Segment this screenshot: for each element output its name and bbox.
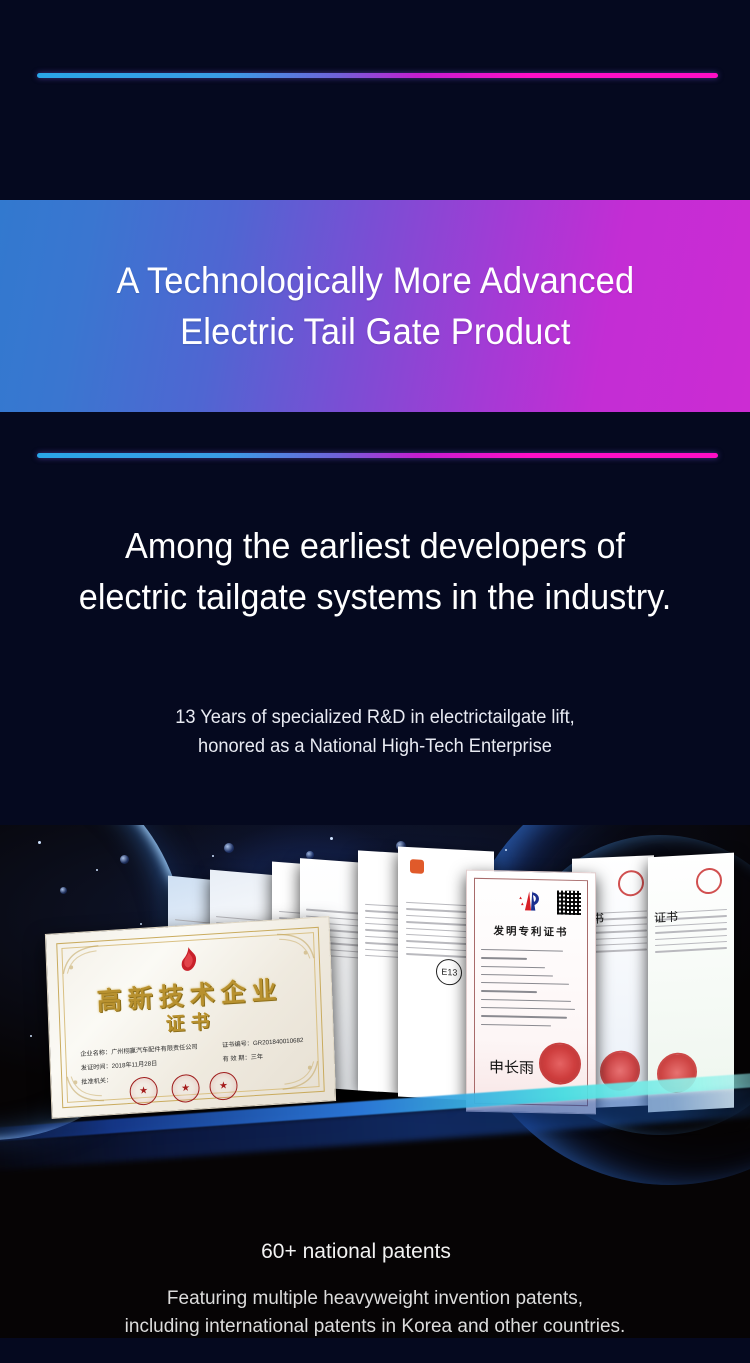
star-dot <box>38 841 41 844</box>
patent-signature: 申长雨 <box>489 1056 534 1078</box>
corner-ornament-icon <box>60 944 101 977</box>
bokeh-dot <box>60 887 67 894</box>
patent-certificate-title: 发明专利证书 <box>467 923 595 941</box>
corner-ornament-icon <box>280 1059 321 1092</box>
invention-patent-certificate: 发明专利证书 申长雨 <box>466 870 596 1115</box>
subtext-line-1: 13 Years of specialized R&D in electrict… <box>15 703 735 732</box>
agency-logo-icon <box>410 859 424 874</box>
star-dot <box>330 837 333 840</box>
background-certificate: 证书 <box>648 853 734 1113</box>
star-dot <box>30 1035 32 1037</box>
star-dot <box>96 869 98 871</box>
banner-title: A Technologically More Advanced Electric… <box>116 255 634 357</box>
headline-line-1: Among the earliest developers of <box>19 520 732 571</box>
company-p-logo-icon <box>518 888 544 915</box>
banner-title-line-1: A Technologically More Advanced <box>116 255 634 306</box>
patents-caption-main: 60+ national patents <box>0 1240 750 1264</box>
bokeh-dot <box>120 855 129 864</box>
promo-page: A Technologically More Advanced Electric… <box>0 0 750 1363</box>
corner-ornament-icon <box>65 1072 106 1105</box>
corner-ornament-icon <box>275 930 316 963</box>
headline: Among the earliest developers of electri… <box>19 520 732 622</box>
banner-title-line-2: Electric Tail Gate Product <box>116 306 634 357</box>
red-seal-ring-icon <box>618 870 644 897</box>
e13-mark-icon: E13 <box>436 958 462 985</box>
high-tech-enterprise-certificate: 高新技术企业 证书 企业名称：广州栩赢汽车配件有限责任公司 发证时间：2018年… <box>45 916 336 1119</box>
qr-code-icon <box>557 891 581 916</box>
star-dot <box>140 923 142 925</box>
star-dot <box>505 849 507 851</box>
bokeh-dot <box>224 843 234 853</box>
patents-caption-sub: Featuring multiple heavyweight invention… <box>0 1285 750 1341</box>
flame-icon <box>176 945 201 972</box>
patents-caption-sub-line-2: including international patents in Korea… <box>0 1313 750 1341</box>
certificate-cn-title: 证书 <box>654 908 678 926</box>
top-gradient-divider <box>37 73 718 78</box>
middle-gradient-divider <box>37 453 718 458</box>
subtext: 13 Years of specialized R&D in electrict… <box>15 703 735 762</box>
gradient-banner: A Technologically More Advanced Electric… <box>0 200 750 412</box>
certificate-text-lines <box>481 949 581 1034</box>
red-seal-ring-icon <box>696 867 722 894</box>
red-official-seal-icon <box>539 1042 581 1085</box>
headline-line-2: electric tailgate systems in the industr… <box>19 571 732 622</box>
star-dot <box>212 855 214 857</box>
patents-caption-sub-line-1: Featuring multiple heavyweight invention… <box>0 1285 750 1313</box>
subtext-line-2: honored as a National High-Tech Enterpri… <box>15 732 735 761</box>
